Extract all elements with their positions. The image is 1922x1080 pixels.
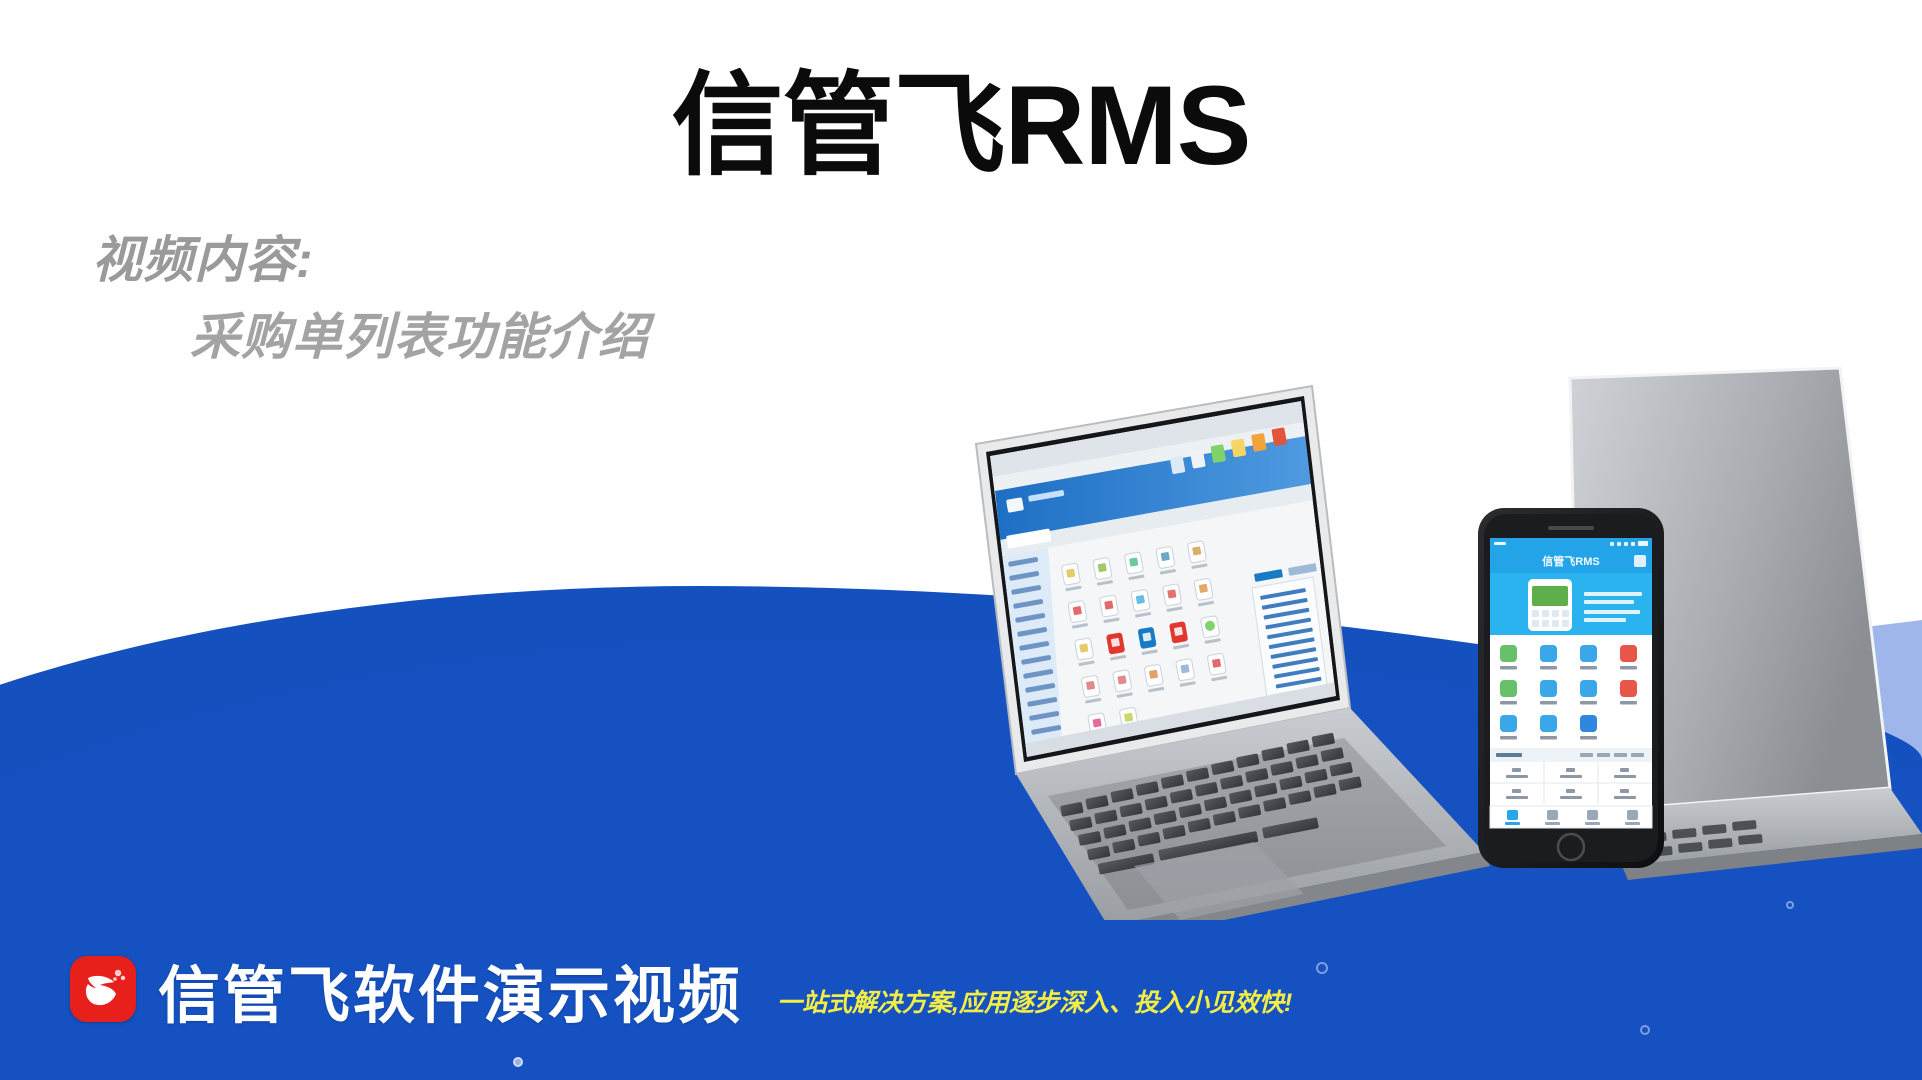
decorative-dot — [1640, 1025, 1650, 1035]
laptop-front — [976, 386, 1490, 920]
subtitle-block: 视频内容: 采购单列表功能介绍 — [92, 230, 649, 368]
page-title: 信管飞RMS — [0, 66, 1922, 187]
presentation-slide: 信管飞RMS 视频内容: 采购单列表功能介绍 — [0, 0, 1922, 1080]
bird-logo-icon — [70, 956, 136, 1022]
brand-name: 信管飞软件演示视频 — [158, 966, 743, 1028]
svg-text:信管飞RMS: 信管飞RMS — [1542, 554, 1599, 568]
device-artwork: 信管飞RMS — [880, 360, 1922, 920]
decorative-dot — [1786, 901, 1794, 909]
brand-tagline: 一站式解决方案,应用逐步深入、投入小见效快! — [777, 991, 1292, 1016]
decorative-dot — [1316, 962, 1328, 974]
subtitle-label: 视频内容: — [92, 230, 649, 291]
brand-bar: 信管飞软件演示视频 一站式解决方案,应用逐步深入、投入小见效快! — [70, 956, 1292, 1028]
smartphone: 信管飞RMS — [1478, 508, 1664, 868]
laptop-screen-content — [990, 401, 1336, 759]
subtitle-content: 采购单列表功能介绍 — [190, 307, 649, 368]
decorative-dot — [513, 1057, 523, 1067]
